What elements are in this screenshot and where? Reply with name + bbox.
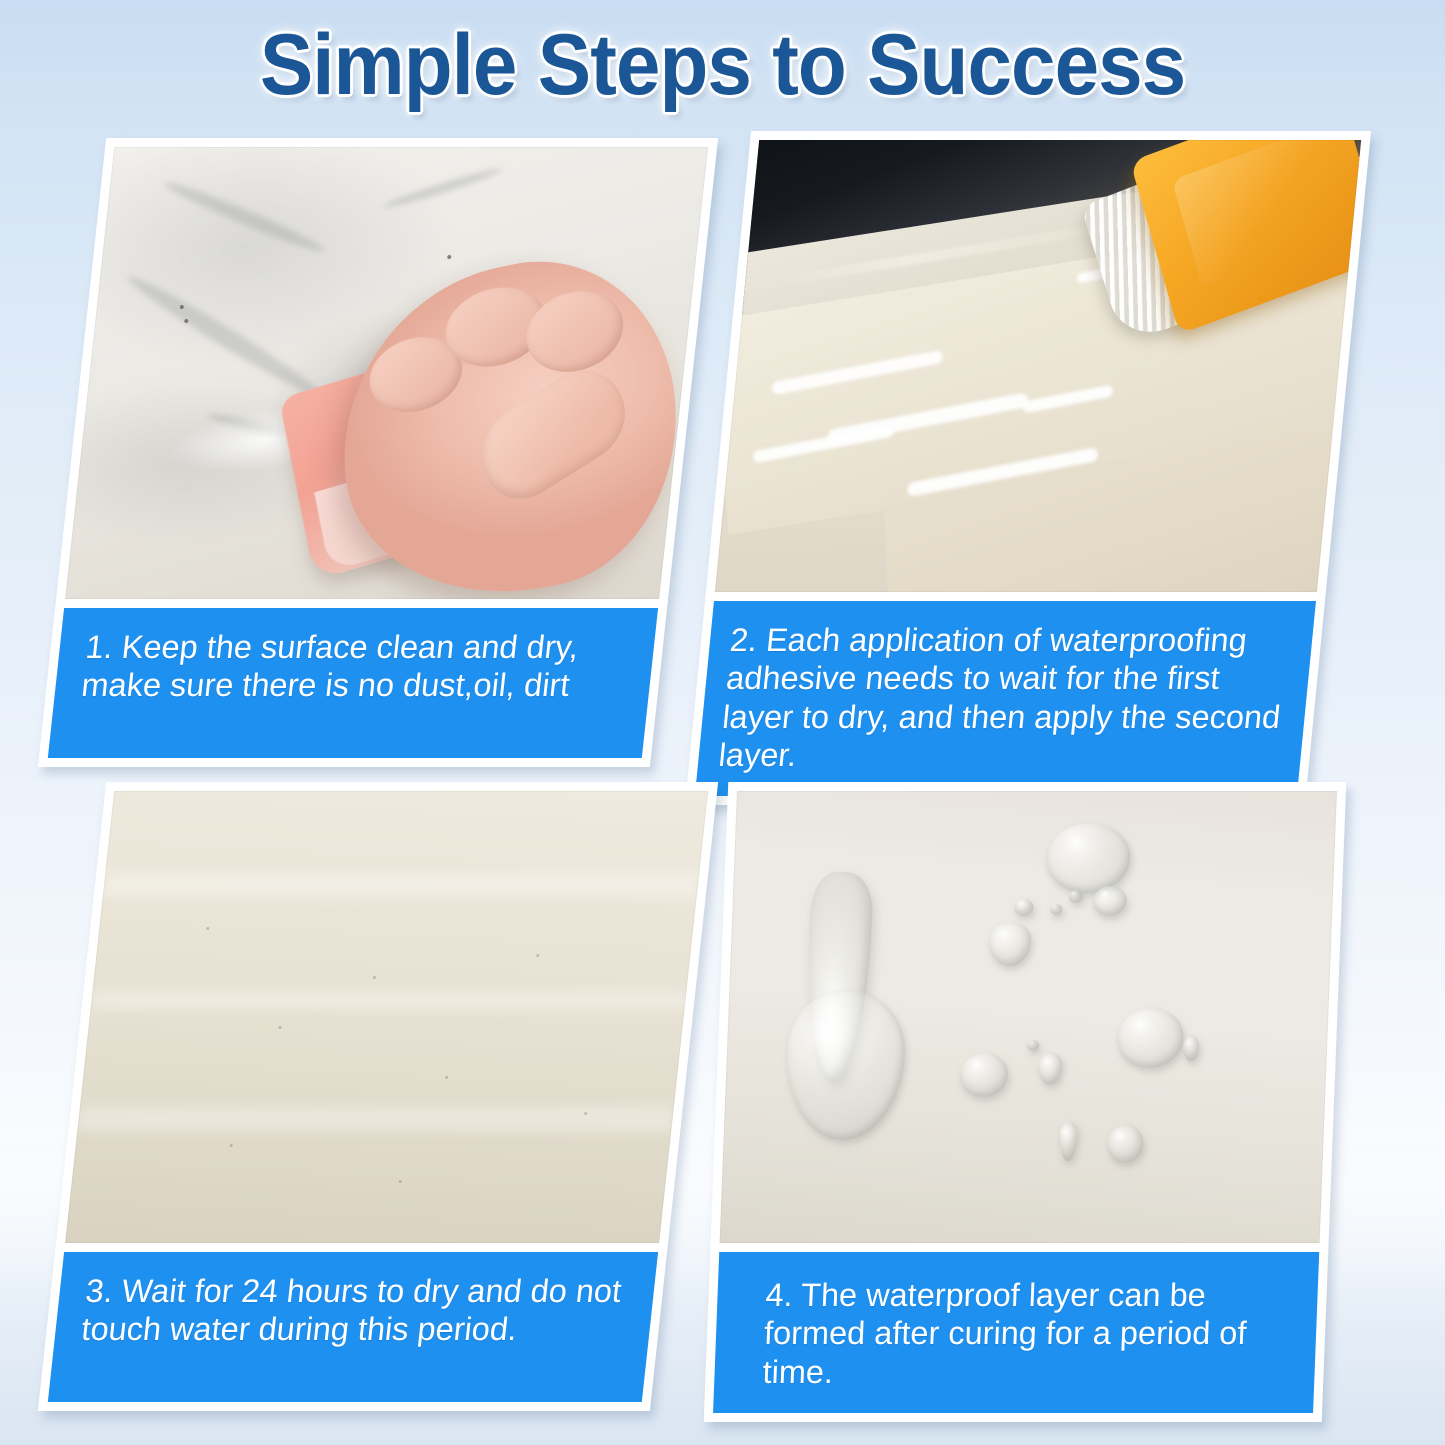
water-droplet <box>959 1053 1009 1097</box>
knuckle <box>524 281 628 379</box>
hand <box>328 234 692 599</box>
surface-grain <box>445 1076 448 1079</box>
title-banner: Simple Steps to Success <box>0 16 1445 115</box>
step-card-2-caption: 2. Each application of waterproofing adh… <box>695 601 1316 796</box>
photo-drying-surface <box>65 791 708 1243</box>
water-droplet <box>1107 1125 1144 1163</box>
marble-vein <box>383 165 503 212</box>
water-droplet <box>1069 890 1083 903</box>
step-card-4: 4. The waterproof layer can be formed af… <box>704 782 1347 1422</box>
marble-vein <box>161 177 327 257</box>
water-droplet <box>1092 886 1127 916</box>
water-droplet <box>1050 904 1062 915</box>
surface-grain <box>230 1144 233 1147</box>
thumb <box>465 353 642 513</box>
surface-grain <box>206 927 209 930</box>
photo-water-beading <box>720 791 1337 1243</box>
photo-clean-surface <box>65 147 708 599</box>
page-title: Simple Steps to Success <box>260 16 1185 115</box>
step-card-1: 1. Keep the surface clean and dry, make … <box>38 138 718 767</box>
water-droplet <box>1038 1053 1063 1085</box>
surface-grain <box>398 1180 401 1183</box>
water-droplet <box>988 922 1032 966</box>
surface-band <box>77 1107 674 1131</box>
step-card-4-inner: 4. The waterproof layer can be formed af… <box>713 791 1337 1413</box>
step-card-2-inner: 2. Each application of waterproofing adh… <box>695 140 1361 796</box>
step-card-4-caption: 4. The waterproof layer can be formed af… <box>713 1252 1319 1413</box>
water-droplet <box>1014 899 1034 916</box>
water-droplet <box>1027 1040 1039 1051</box>
water-droplet <box>784 990 908 1140</box>
surface-grain <box>584 1112 587 1115</box>
marble-vein <box>123 269 329 405</box>
step-card-3-caption: 3. Wait for 24 hours to dry and do not t… <box>48 1252 658 1402</box>
step-card-1-inner: 1. Keep the surface clean and dry, make … <box>48 147 708 758</box>
step-card-2: 2. Each application of waterproofing adh… <box>685 131 1371 805</box>
surface-band <box>103 872 700 898</box>
water-droplet <box>1116 1008 1184 1068</box>
surface-grain <box>373 976 376 979</box>
step-card-3-inner: 3. Wait for 24 hours to dry and do not t… <box>48 791 708 1402</box>
water-droplet <box>1059 1121 1079 1161</box>
step-card-3: 3. Wait for 24 hours to dry and do not t… <box>38 782 718 1411</box>
surface-speck <box>446 255 450 259</box>
water-droplet <box>1045 823 1132 893</box>
surface-grain <box>536 954 539 957</box>
step-card-1-caption: 1. Keep the surface clean and dry, make … <box>48 608 658 758</box>
water-droplet <box>1183 1035 1200 1061</box>
photo-apply-adhesive <box>715 140 1361 592</box>
surface-band <box>90 990 686 1010</box>
surface-grain <box>278 1026 281 1029</box>
photo-inner-edge <box>65 791 708 1243</box>
